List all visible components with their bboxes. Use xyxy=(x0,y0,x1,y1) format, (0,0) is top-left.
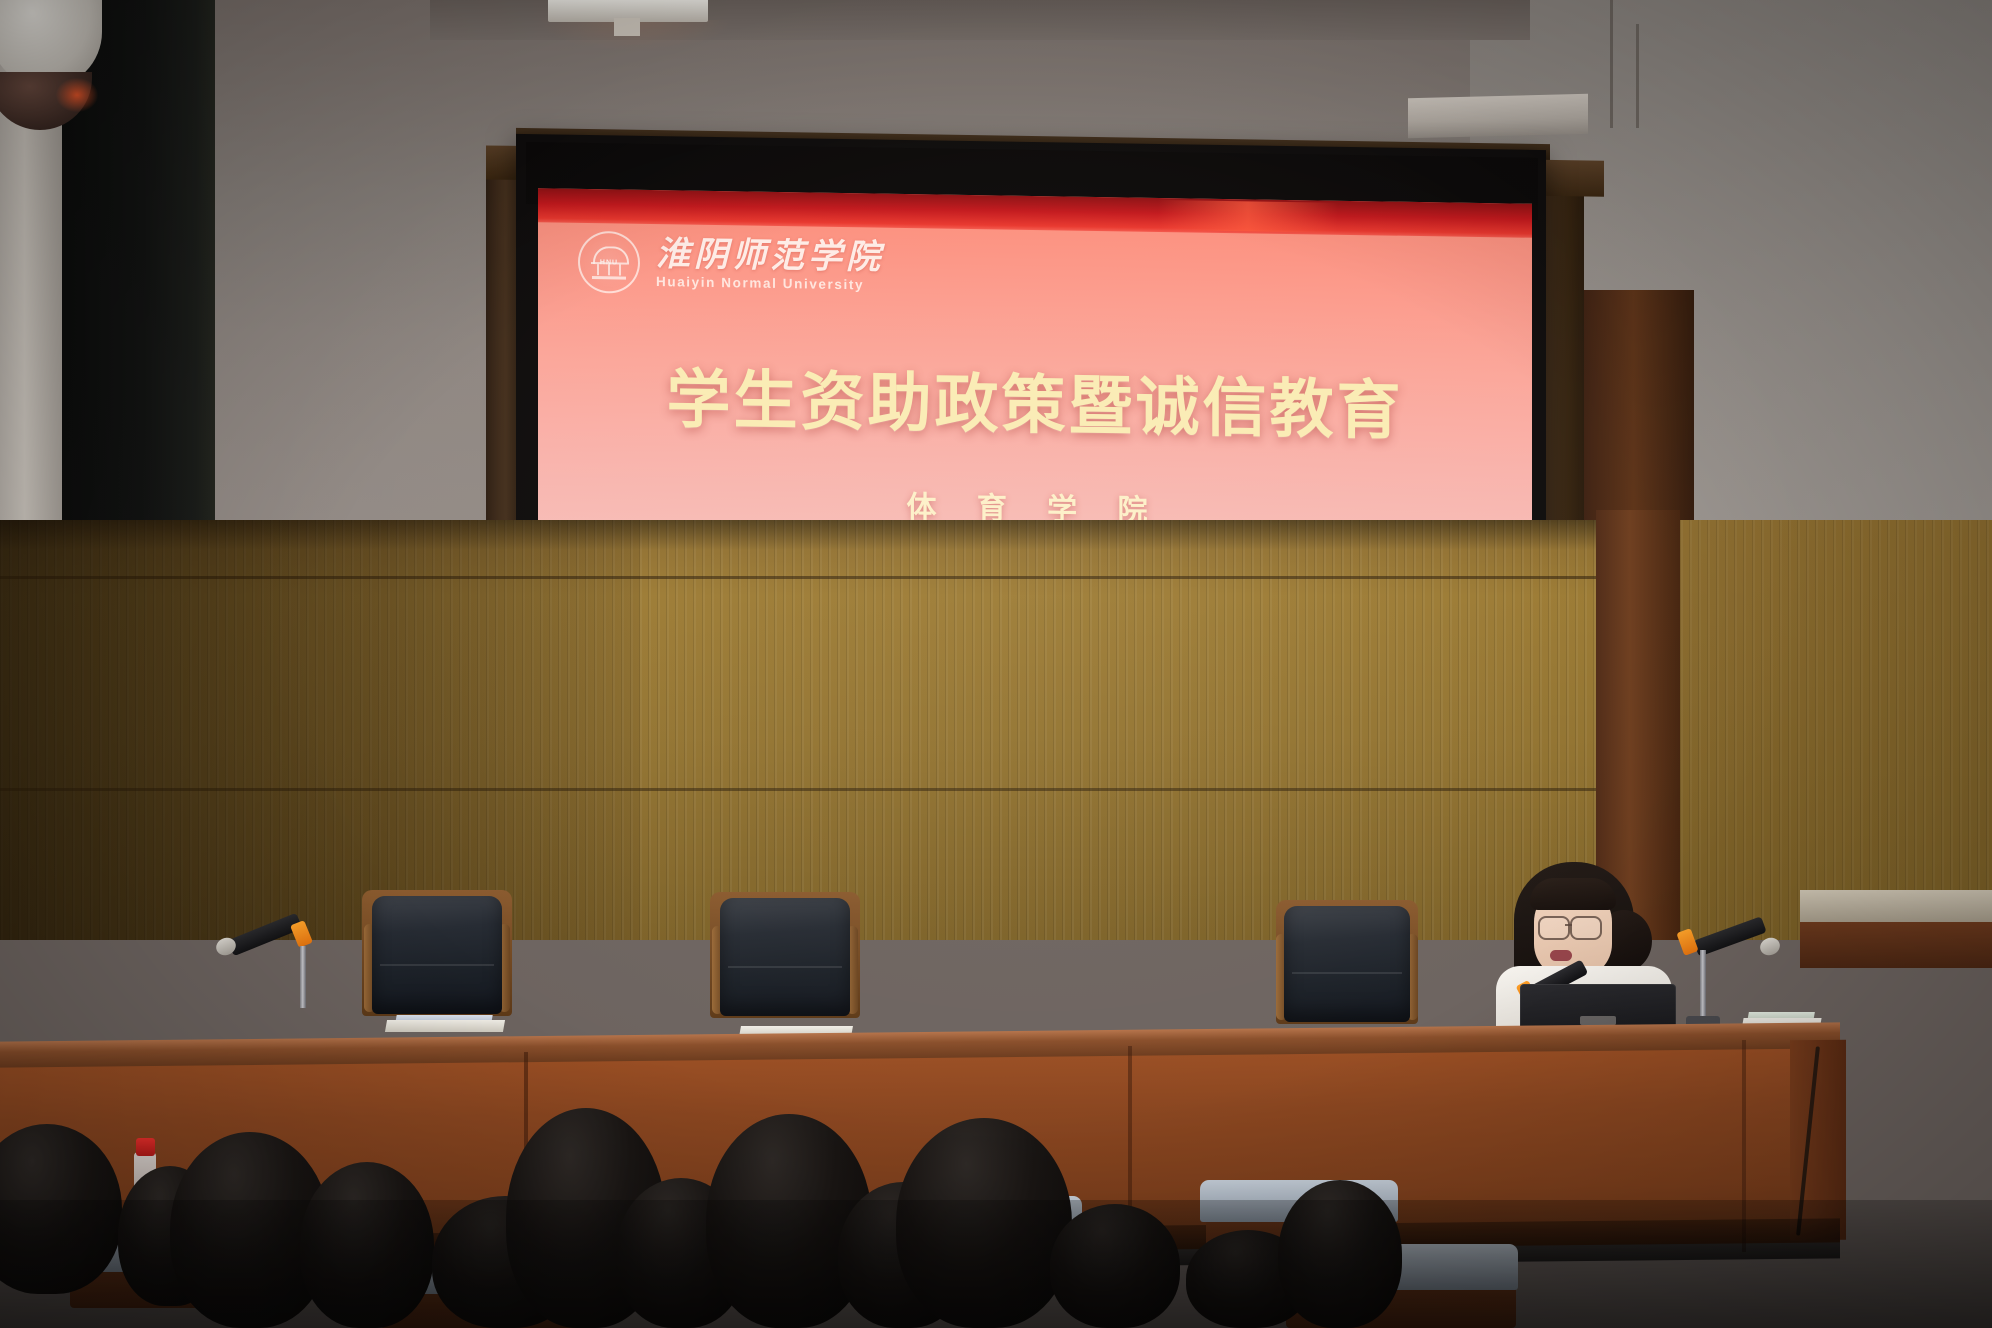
seal-base xyxy=(592,276,626,280)
audience-shadow xyxy=(0,1200,1992,1328)
right-pillar-upper xyxy=(1584,290,1694,520)
slide-red-banner-highlight xyxy=(1158,200,1338,233)
chair-right-backrest xyxy=(1284,906,1410,1022)
water-bottle-cap xyxy=(136,1138,155,1156)
chair-center xyxy=(706,892,864,1022)
logo-text-block: 淮阴师范学院 Huaiyin Normal University xyxy=(656,237,884,292)
dome-camera-glow xyxy=(56,78,98,112)
chair-center-backrest xyxy=(720,898,850,1016)
mic-right-stand xyxy=(1700,950,1706,1022)
presenter-fringe xyxy=(1530,878,1616,910)
chair-left xyxy=(358,890,516,1020)
mic-left-stand xyxy=(300,946,306,1008)
university-name-cn: 淮阴师范学院 xyxy=(656,237,884,276)
eyeglasses-left-lens xyxy=(1538,916,1570,940)
screen-cord-2 xyxy=(1636,24,1639,128)
chair-right-seam xyxy=(1292,972,1402,974)
stage-step-side xyxy=(1800,922,1992,968)
university-seal-icon: HNU xyxy=(578,231,640,294)
right-far-wall-panel xyxy=(1680,520,1992,940)
seal-initials: HNU xyxy=(580,259,638,267)
screen-roller-casing xyxy=(1408,94,1588,138)
chair-center-seam xyxy=(728,966,842,968)
university-logo: HNU 淮阴师范学院 Huaiyin Normal University xyxy=(578,231,884,298)
chair-right xyxy=(1272,900,1422,1028)
wall-paneling-shadowed xyxy=(0,520,640,940)
eyeglasses-bridge xyxy=(1565,924,1572,926)
papers-left xyxy=(385,1020,505,1032)
laptop-brand-logo xyxy=(1580,1016,1616,1025)
presenter-mouth xyxy=(1550,950,1572,961)
screen-cord xyxy=(1610,0,1613,128)
lecture-hall-photo: HNU 淮阴师范学院 Huaiyin Normal University 学生资… xyxy=(0,0,1992,1328)
university-name-en: Huaiyin Normal University xyxy=(656,274,884,293)
chair-left-backrest xyxy=(372,896,502,1014)
chair-left-seam xyxy=(380,964,494,966)
projector-mount xyxy=(614,18,640,36)
slide-title: 学生资助政策暨诚信教育 xyxy=(538,346,1532,454)
eyeglasses-right-lens xyxy=(1570,916,1602,940)
